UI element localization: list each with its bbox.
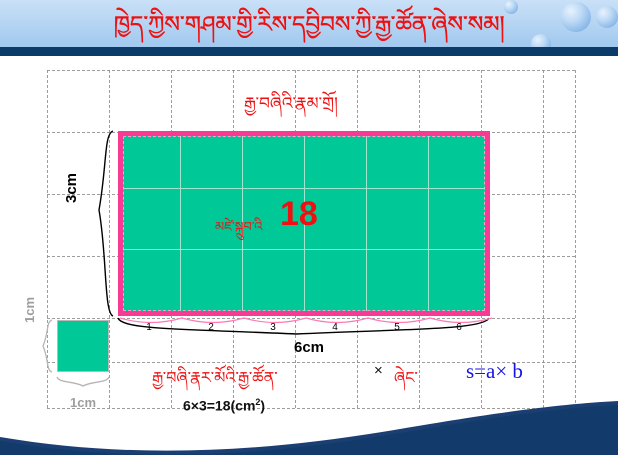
height-label: 3cm [63, 173, 80, 203]
tick-number: 3 [242, 322, 304, 333]
rect-gridline [428, 136, 429, 311]
tick-number: 2 [180, 322, 242, 333]
formula-tibetan-b: ཞེང་ [394, 360, 418, 405]
area-value: 18 [280, 197, 318, 231]
inside-label: མཛེ་སྐྲུབ་འི [215, 212, 262, 249]
rect-gridline [123, 188, 485, 189]
tick-number: 5 [366, 322, 428, 333]
rect-gridline [123, 249, 485, 250]
figure-title: རྒྱ་བཞིའི་རྣམ་གྲོ། [244, 84, 338, 132]
rect-gridline [366, 136, 367, 311]
calculation-text: 6×3=18(cm [183, 398, 255, 414]
width-label: 6cm [0, 339, 618, 356]
unit-width-label: 1cm [57, 395, 109, 410]
formula-symbolic: s=a× b [466, 358, 606, 385]
tick-number: 6 [428, 322, 490, 333]
unit-height-label: 1cm [22, 297, 37, 323]
tick-number: 1 [118, 322, 180, 333]
header-divider [0, 47, 618, 56]
calculation: 6×3=18(cm2) [183, 397, 265, 414]
slide-header: ཁྱེད་ཀྱིས་གཤམ་གྱི་རིས་དབྱིབས་ཀྱི་རྒྱ་ཚོན… [0, 0, 618, 56]
calculation-tail: ) [260, 398, 265, 414]
formula-times: × [374, 362, 383, 379]
tick-number: 4 [304, 322, 366, 333]
page-title: ཁྱེད་ཀྱིས་གཤམ་གྱི་རིས་དབྱིབས་ཀྱི་རྒྱ་ཚོན… [0, 8, 618, 42]
rect-gridline [180, 136, 181, 311]
slide-canvas: ཁྱེད་ཀྱིས་གཤམ་གྱི་རིས་དབྱིབས་ཀྱི་རྒྱ་ཚོན… [0, 0, 618, 455]
